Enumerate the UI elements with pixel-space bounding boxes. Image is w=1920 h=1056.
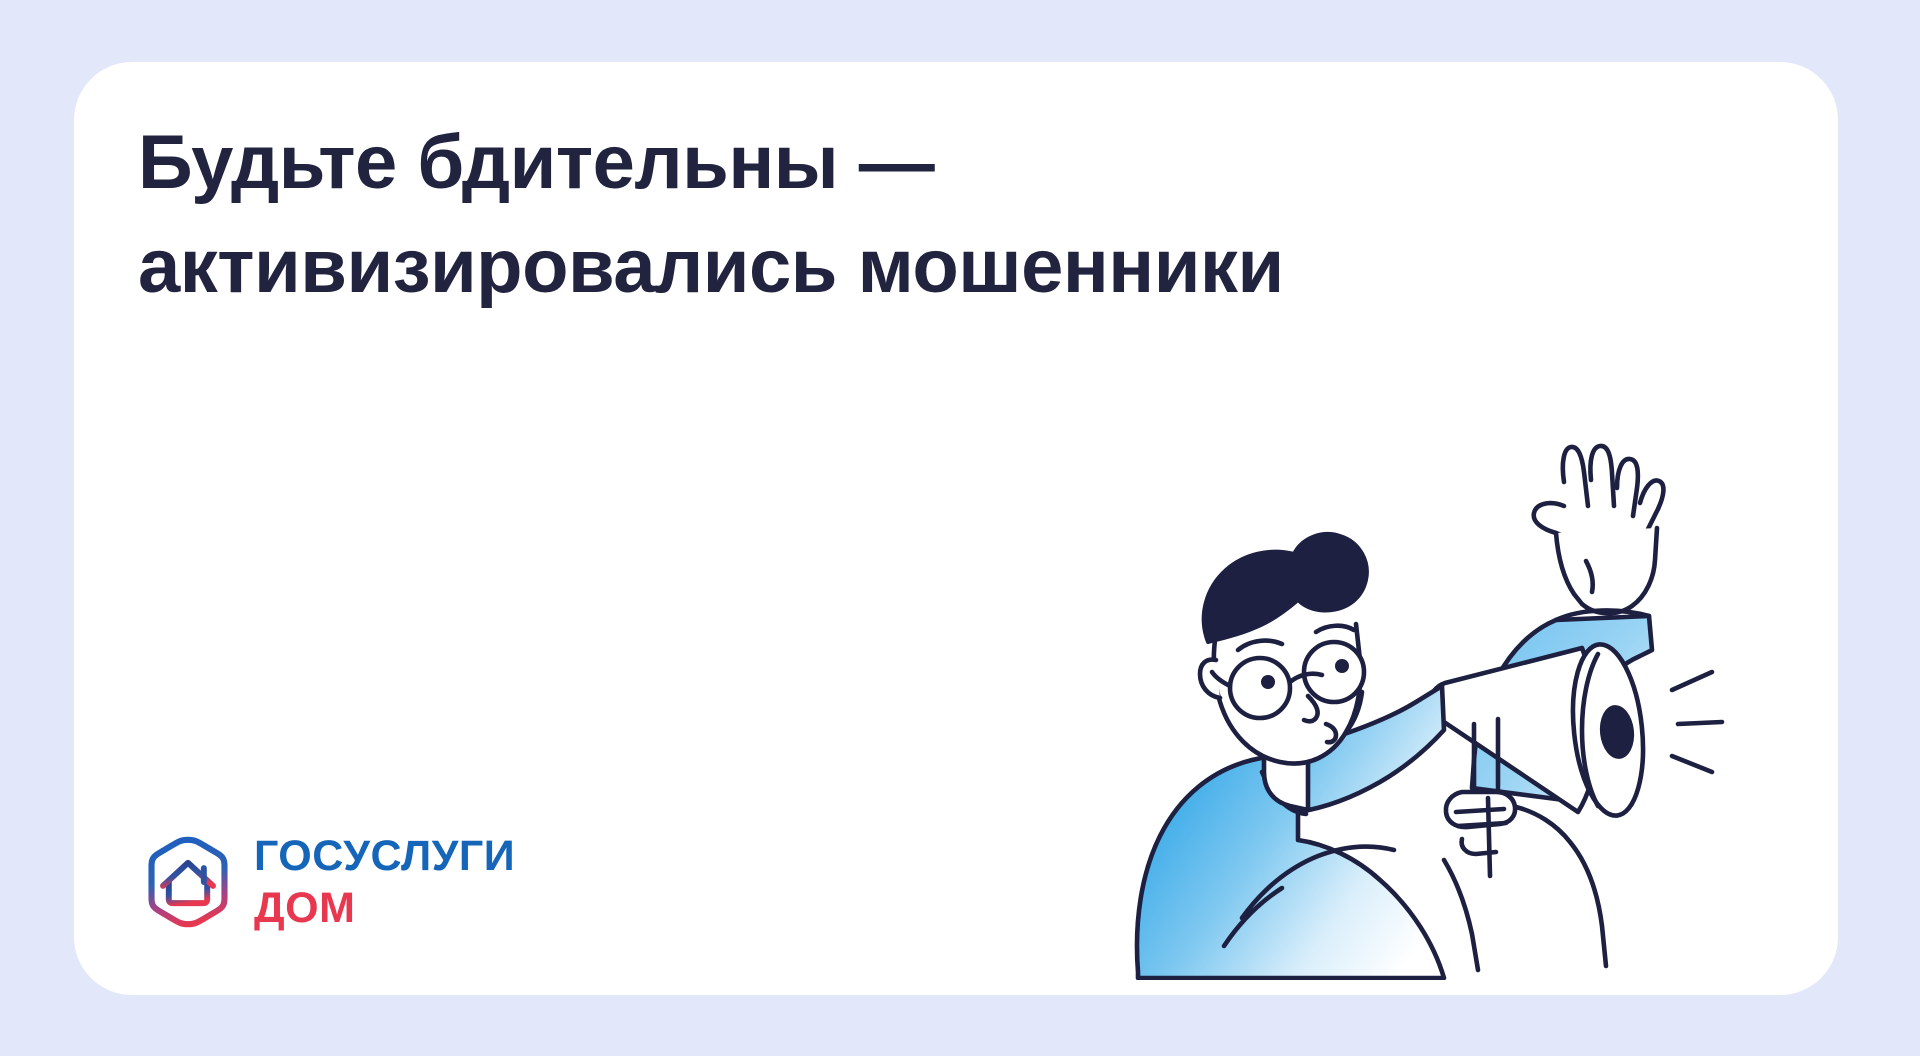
- headline-line-1: Будьте бдительны —: [138, 111, 1538, 215]
- poster-canvas: Будьте бдительны — активизировались моше…: [0, 0, 1920, 1056]
- brand-logo[interactable]: ГОСУСЛУГИ ДОМ: [140, 834, 515, 930]
- brand-wordmark-bottom: ДОМ: [254, 887, 515, 930]
- page-title: Будьте бдительны — активизировались моше…: [138, 111, 1538, 319]
- brand-wordmark-top: ГОСУСЛУГИ: [254, 835, 515, 878]
- person-with-megaphone-illustration: [1112, 320, 1812, 980]
- headline-line-2: активизировались мошенники: [138, 215, 1538, 319]
- announcement-card: Будьте бдительны — активизировались моше…: [74, 62, 1838, 995]
- gosuslugi-dom-house-hexagon-logo-icon: [140, 834, 236, 930]
- brand-wordmark: ГОСУСЛУГИ ДОМ: [254, 835, 515, 930]
